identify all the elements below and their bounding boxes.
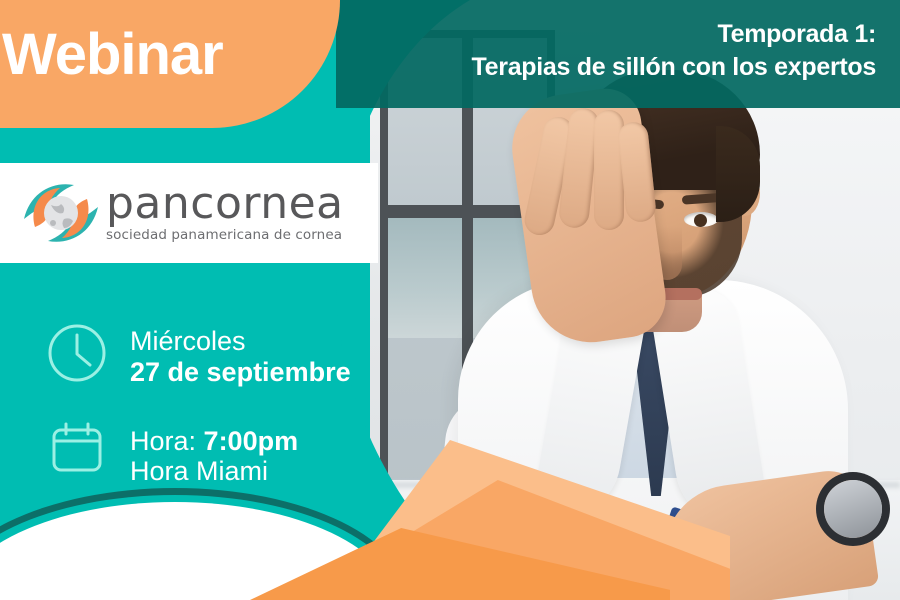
logo-tagline: sociedad panamericana de cornea [106,227,344,243]
event-date-row: Miércoles 27 de septiembre [46,322,366,388]
title-line-1: Temporada 1: [472,18,876,51]
logo-text: pancornea sociedad panamericana de corne… [106,183,344,243]
pancornea-eye-globe-icon [18,175,104,251]
event-timezone: Hora Miami [130,456,298,487]
title-band: Temporada 1: Terapias de sillón con los … [336,0,900,108]
event-day: Miércoles [130,326,351,357]
finger [594,110,624,230]
calendar-icon [46,416,108,478]
event-time-row: Hora: 7:00pm Hora Miami [46,416,366,488]
event-time-label: Hora: [130,426,196,456]
wristwatch [824,480,882,538]
event-date-text: Miércoles 27 de septiembre [130,322,351,388]
event-time-text: Hora: 7:00pm Hora Miami [130,416,298,488]
event-time-value: 7:00pm [204,426,299,456]
pupil-right [694,214,707,227]
logo-wordmark: pancornea [106,183,344,225]
event-time: Hora: 7:00pm [130,426,298,457]
event-date: 27 de septiembre [130,357,351,388]
webinar-label: Webinar [2,26,223,84]
event-details: Miércoles 27 de septiembre Hora: 7:00pm … [46,322,366,515]
clock-icon [46,322,108,384]
logo-band: pancornea sociedad panamericana de corne… [0,163,378,263]
webinar-poster: Temporada 1: Terapias de sillón con los … [0,0,900,600]
pancornea-logo: pancornea sociedad panamericana de corne… [18,175,344,251]
page-title: Temporada 1: Terapias de sillón con los … [472,18,876,84]
title-line-2: Terapias de sillón con los expertos [472,51,876,84]
